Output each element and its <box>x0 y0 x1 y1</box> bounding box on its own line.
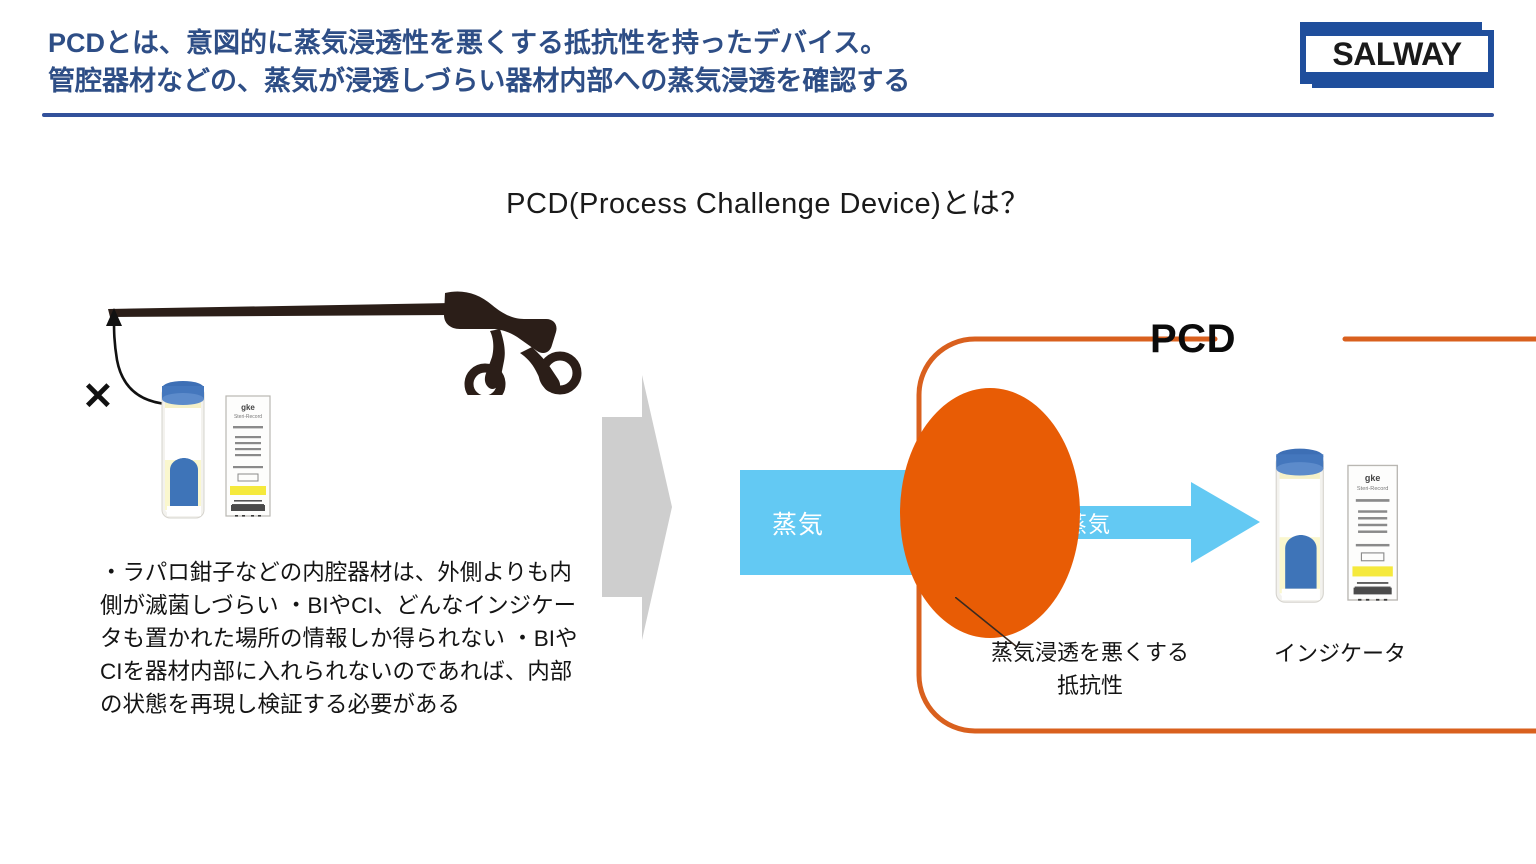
svg-text:gke: gke <box>241 403 255 412</box>
resistance-label: 蒸気浸透を悪くする 抵抗性 <box>940 636 1240 702</box>
biological-indicator-icon: gke Steri-Record <box>152 374 284 526</box>
biological-indicator-icon: gke Steri-Record <box>1265 440 1413 612</box>
slide-subtitle: PCD(Process Challenge Device)とは？ <box>0 180 1536 222</box>
svg-text:Steri-Record: Steri-Record <box>1357 486 1388 492</box>
logo-white-band: SALWAY <box>1306 36 1488 72</box>
left-description-text: ・ラパロ鉗子などの内腔器材は、外側よりも内側が滅菌しづらい ・BIやCI、どんな… <box>100 556 590 721</box>
salway-logo: SALWAY <box>1298 22 1494 90</box>
page-title: PCDとは、意図的に蒸気浸透性を悪くする抵抗性を持ったデバイス。 管腔器材などの… <box>48 24 1248 100</box>
title-line-2: 管腔器材などの、蒸気が浸透しづらい器材内部への蒸気浸透を確認する <box>48 62 1248 100</box>
slide-canvas: PCDとは、意図的に蒸気浸透性を悪くする抵抗性を持ったデバイス。 管腔器材などの… <box>0 0 1536 864</box>
title-line-1: PCDとは、意図的に蒸気浸透性を悪くする抵抗性を持ったデバイス。 <box>48 24 1248 62</box>
gray-block-arrow-icon <box>602 375 672 640</box>
indicator-label: インジケータ <box>1230 636 1450 668</box>
resistance-label-line-1: 蒸気浸透を悪くする <box>940 636 1240 669</box>
logo-text: SALWAY <box>1332 36 1461 73</box>
header-divider <box>42 113 1494 117</box>
svg-text:gke: gke <box>1365 473 1380 483</box>
svg-text:Steri-Record: Steri-Record <box>234 414 262 420</box>
steam-inflow-label: 蒸気 <box>772 505 824 541</box>
pcd-title-label: PCD <box>1150 317 1236 362</box>
pcd-diagram: PCD 蒸気 蒸気 蒸気浸透を悪くする 抵抗性 <box>740 300 1500 740</box>
resistance-label-line-2: 抵抗性 <box>940 669 1240 702</box>
